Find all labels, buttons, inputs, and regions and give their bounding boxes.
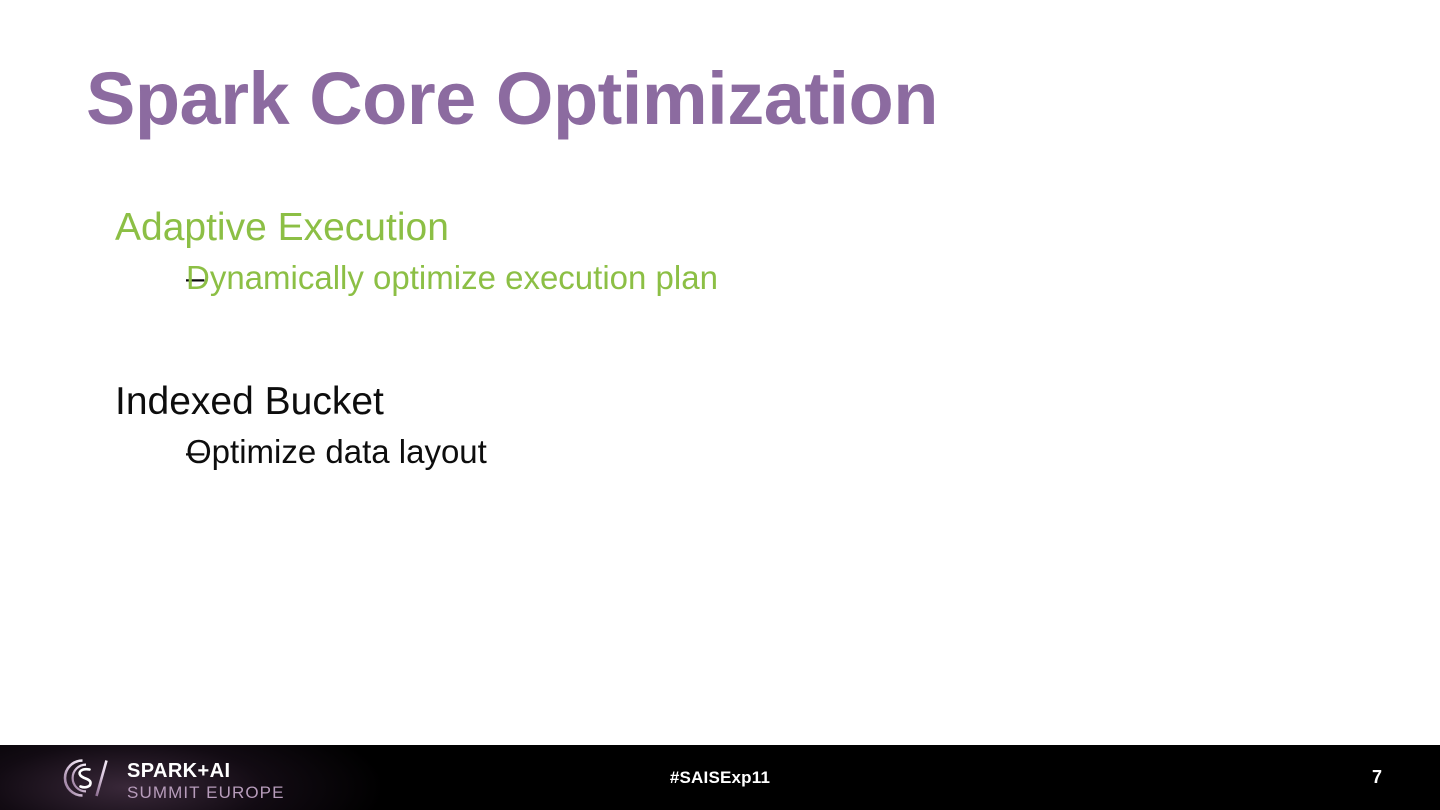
slide-canvas: Spark Core Optimization Adaptive Executi… <box>0 0 1440 810</box>
slide-footer: SPARK+AI SUMMIT EUROPE #SAISExp11 7 <box>0 745 1440 810</box>
content-topic: Indexed Bucket – Optimize data layout <box>115 379 487 473</box>
event-hashtag: #SAISExp11 <box>0 745 1440 810</box>
bullet-dash-icon: – <box>115 431 186 473</box>
content-topic: Adaptive Execution – Dynamically optimiz… <box>115 205 718 299</box>
bullet-text: Optimize data layout <box>186 431 487 473</box>
bullet-dash-icon: – <box>115 257 186 299</box>
bullet-item: – Optimize data layout <box>115 431 487 473</box>
page-title: Spark Core Optimization <box>86 56 938 142</box>
topic-heading: Indexed Bucket <box>115 379 487 425</box>
bullet-item: – Dynamically optimize execution plan <box>115 257 718 299</box>
page-number: 7 <box>1372 745 1382 810</box>
topic-heading: Adaptive Execution <box>115 205 718 251</box>
bullet-text: Dynamically optimize execution plan <box>186 257 718 299</box>
